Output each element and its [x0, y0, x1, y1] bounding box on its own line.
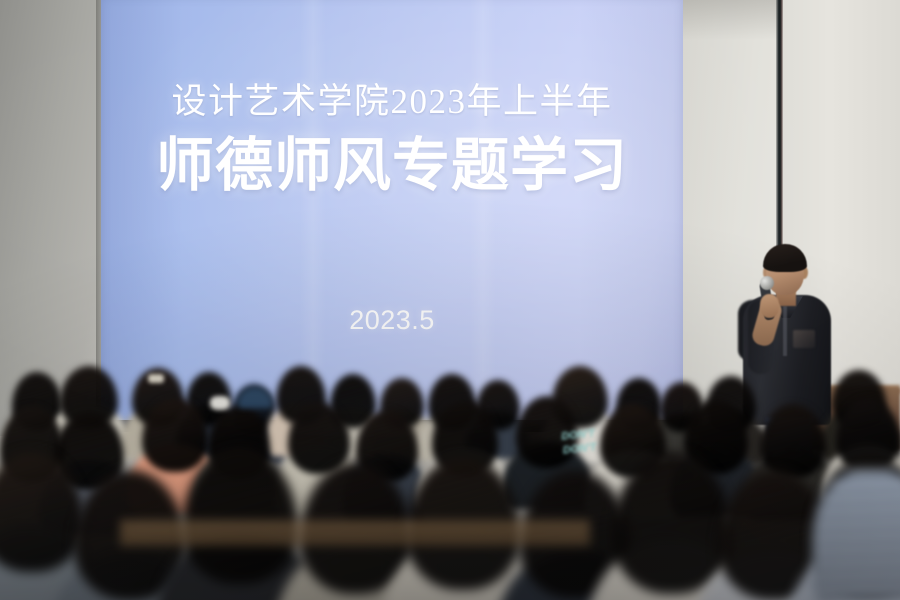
slide-date: 2023.5 — [101, 305, 683, 336]
projection-screen — [101, 0, 683, 428]
speaker-shirt-placket — [783, 306, 787, 356]
lecture-hall-photo: 设计艺术学院2023年上半年 师德师风专题学习 2023.5 DON'TDON'… — [0, 0, 900, 600]
speaker-shirt-pocket — [793, 330, 815, 348]
speaker-hand — [760, 294, 779, 318]
face-mask — [210, 396, 230, 410]
desk-strip — [120, 520, 590, 546]
hair-clip — [148, 374, 164, 383]
slide-subtitle: 设计艺术学院2023年上半年 — [101, 82, 683, 122]
slide-title: 师德师风专题学习 — [101, 134, 683, 198]
